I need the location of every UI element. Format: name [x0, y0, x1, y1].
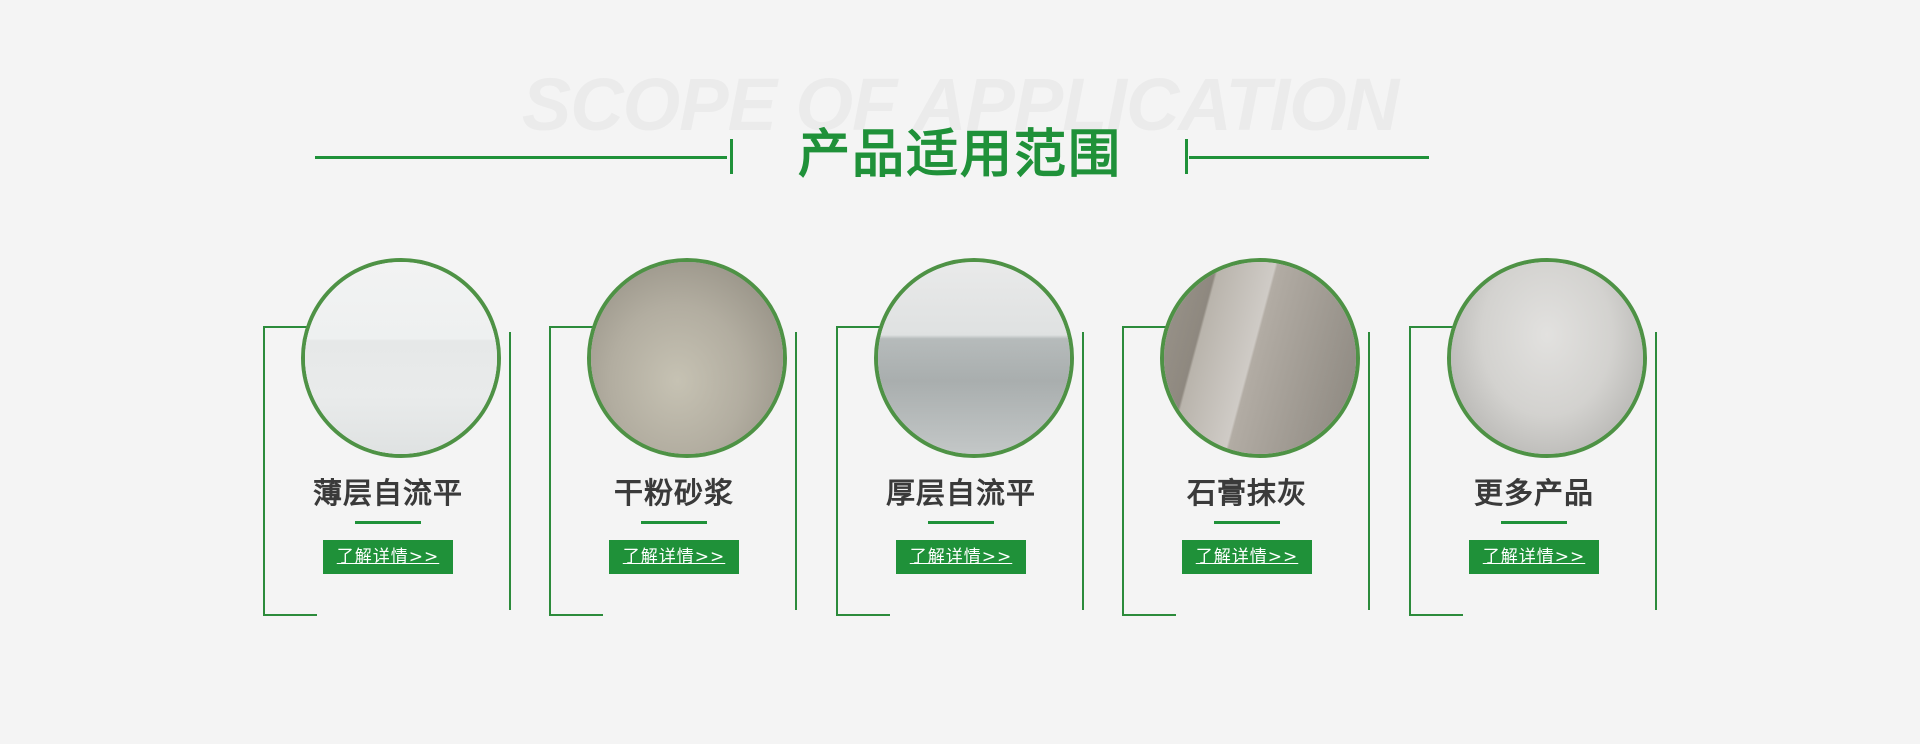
- card-label-underline: [1214, 521, 1280, 524]
- card-label-underline: [1501, 521, 1567, 524]
- card-label-underline: [928, 521, 994, 524]
- card-thumbnail-thick-layer-self-leveling-workshop-photo[interactable]: [874, 258, 1074, 458]
- dry-powder-mortar-pile-photo: [591, 262, 783, 454]
- card-label: 更多产品: [1409, 470, 1659, 512]
- card-label: 石膏抹灰: [1122, 470, 1372, 512]
- product-scope-card-5[interactable]: 更多产品 了解详情>>: [1409, 258, 1659, 618]
- product-scope-card-1[interactable]: 薄层自流平 了解详情>>: [263, 258, 513, 618]
- product-scope-card-3[interactable]: 厚层自流平 了解详情>>: [836, 258, 1086, 618]
- card-detail-button[interactable]: 了解详情>>: [1182, 540, 1312, 574]
- gypsum-plastering-trowel-photo: [1164, 262, 1356, 454]
- product-scope-card-2[interactable]: 干粉砂浆 了解详情>>: [549, 258, 799, 618]
- card-detail-button[interactable]: 了解详情>>: [896, 540, 1026, 574]
- thin-layer-self-leveling-floor-photo: [305, 262, 497, 454]
- product-scope-card-4[interactable]: 石膏抹灰 了解详情>>: [1122, 258, 1372, 618]
- card-detail-button[interactable]: 了解详情>>: [323, 540, 453, 574]
- card-label: 干粉砂浆: [549, 470, 799, 512]
- product-scope-card-list: 薄层自流平 了解详情>> 干粉砂浆 了解详情>> 厚层自流平 了解详情>> 石膏…: [0, 0, 1920, 744]
- card-detail-button[interactable]: 了解详情>>: [1469, 540, 1599, 574]
- card-label: 薄层自流平: [263, 470, 513, 512]
- card-thumbnail-thin-layer-self-leveling-floor-photo[interactable]: [301, 258, 501, 458]
- scope-of-application-section: SCOPE OF APPLICATION 产品适用范围 薄层自流平 了解详情>>…: [0, 0, 1920, 744]
- card-frame-notch-bottom: [1463, 610, 1659, 620]
- card-frame-notch-bottom: [317, 610, 513, 620]
- card-label-underline: [355, 521, 421, 524]
- card-frame-notch-bottom: [603, 610, 799, 620]
- card-thumbnail-gypsum-plastering-trowel-photo[interactable]: [1160, 258, 1360, 458]
- thick-layer-self-leveling-workshop-photo: [878, 262, 1070, 454]
- card-label: 厚层自流平: [836, 470, 1086, 512]
- card-thumbnail-dry-powder-mortar-pile-photo[interactable]: [587, 258, 787, 458]
- card-thumbnail-more-products-surface-photo[interactable]: [1447, 258, 1647, 458]
- card-frame-notch-bottom: [890, 610, 1086, 620]
- card-detail-button[interactable]: 了解详情>>: [609, 540, 739, 574]
- more-products-surface-photo: [1451, 262, 1643, 454]
- card-label-underline: [641, 521, 707, 524]
- card-frame-notch-bottom: [1176, 610, 1372, 620]
